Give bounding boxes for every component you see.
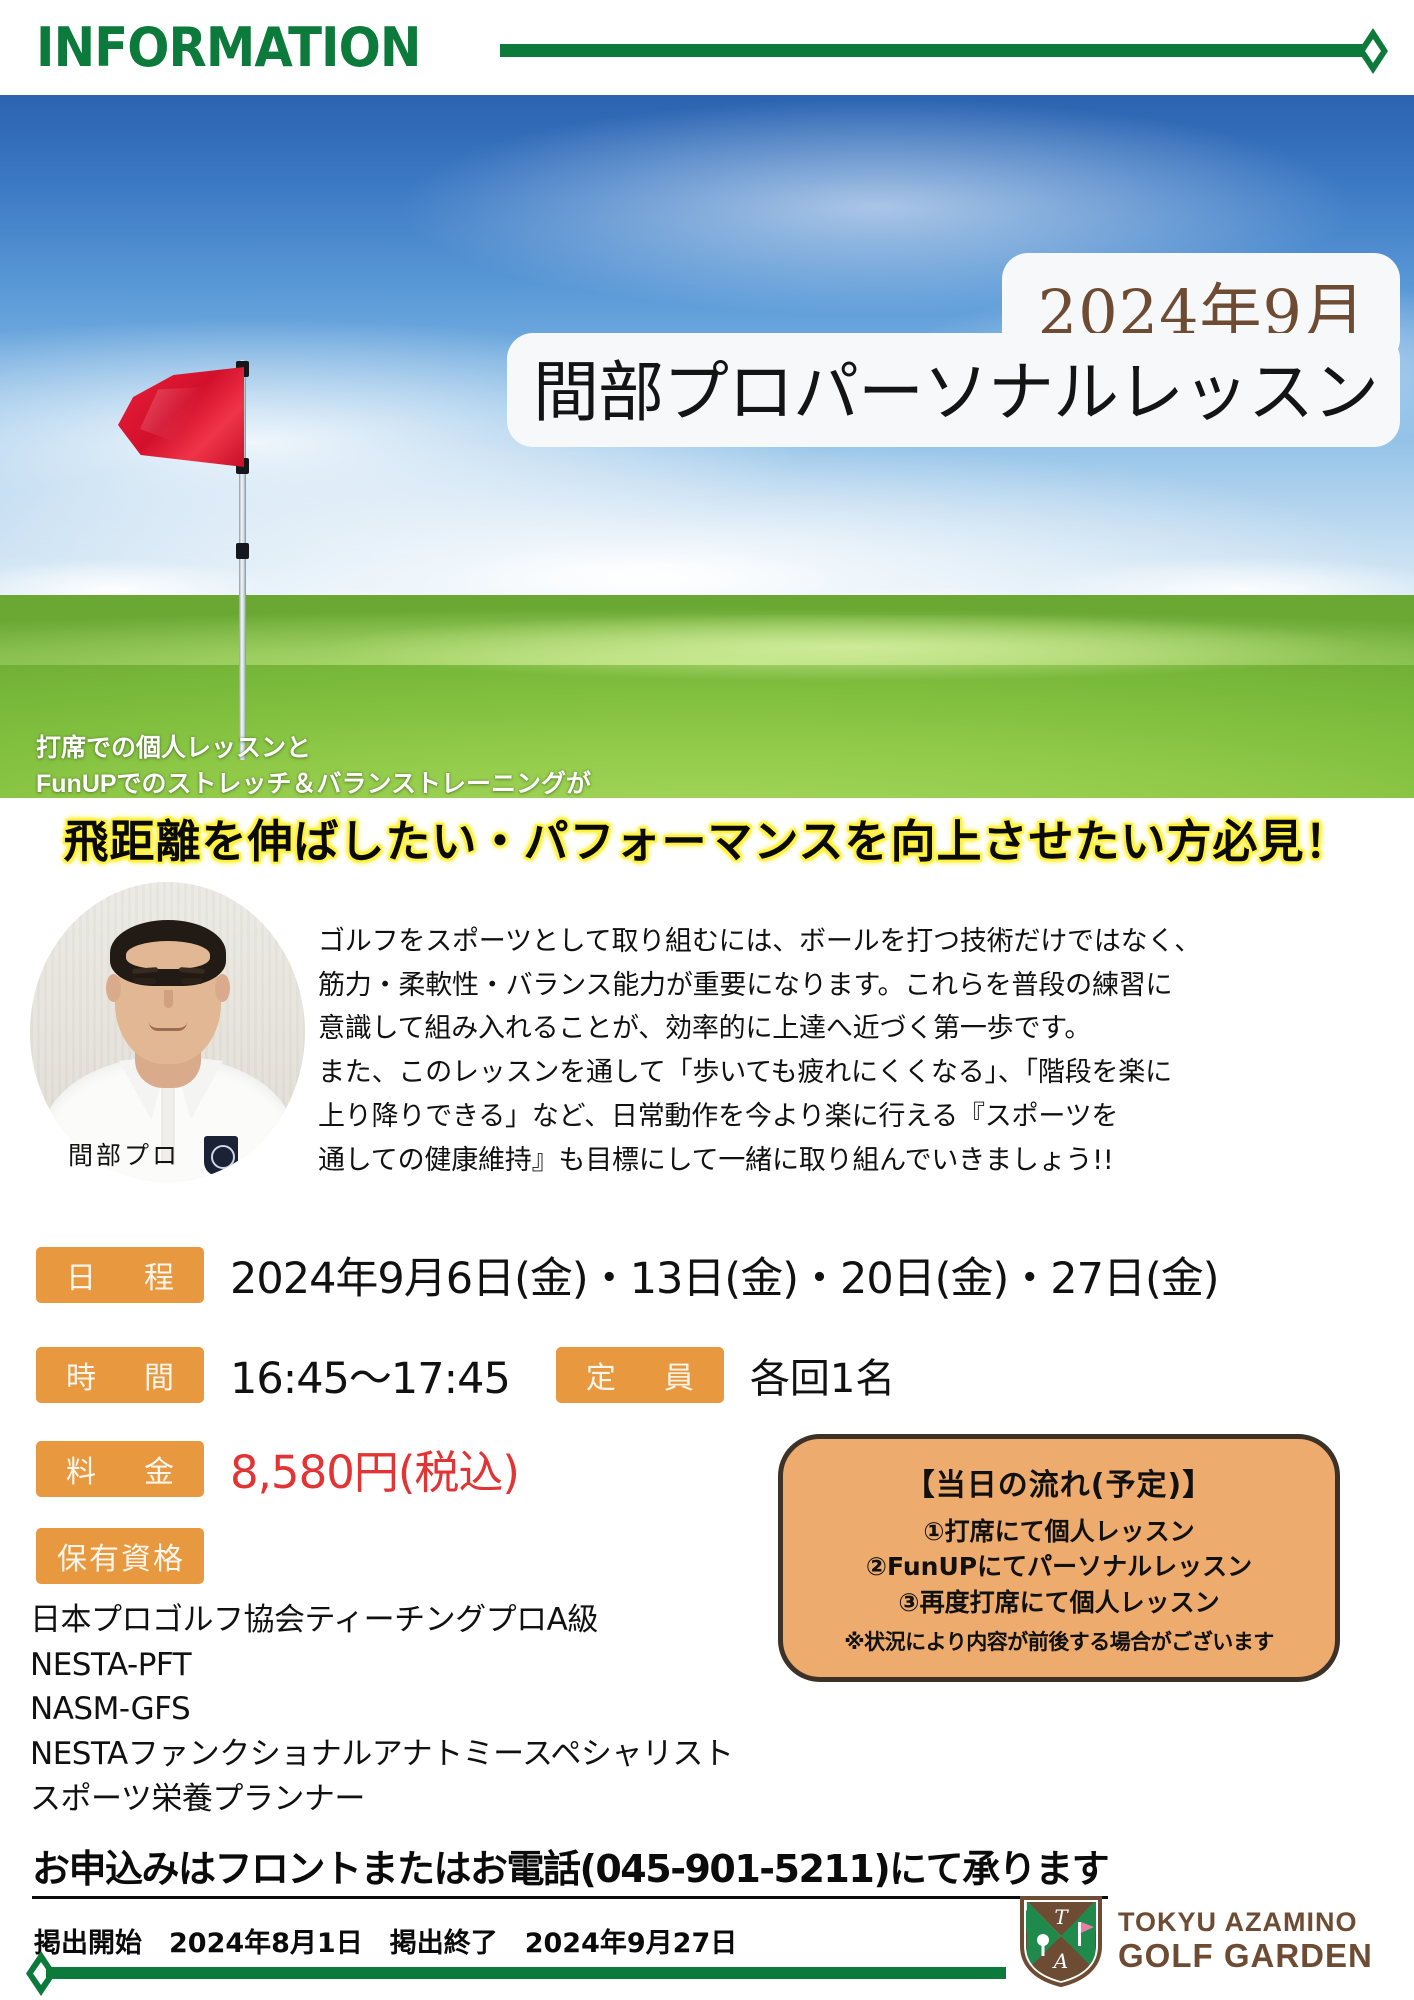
grass-highlight — [0, 615, 1414, 695]
info-row-qualifications: 保有資格 — [36, 1528, 204, 1584]
info-row-time: 時 間 16:45〜17:45 定 員 各回1名 — [36, 1344, 895, 1406]
label-fee: 料 金 — [36, 1441, 204, 1497]
booking-cta-text: お申込みはフロントまたはお電話(045-901-5211)にて承ります — [32, 1838, 1108, 1899]
photo-mouth — [149, 1022, 187, 1031]
hero-lead-text: 打席での個人レッスンと FunUPでのストレッチ＆バランストレーニングが セット… — [36, 731, 591, 798]
value-fee: 8,580円(税込) — [230, 1436, 519, 1501]
label-time: 時 間 — [36, 1347, 204, 1403]
posting-period-text: 掲出開始 2024年8月1日 掲出終了 2024年9月27日 — [34, 1921, 737, 1960]
label-date: 日 程 — [36, 1247, 204, 1303]
flow-note: ※状況により内容が前後する場合がございます — [844, 1626, 1274, 1656]
brand-logo-text: TOKYU AZAMINO GOLF GARDEN — [1118, 1909, 1373, 1972]
header-title: INFORMATION — [36, 16, 421, 79]
photo-ear-left — [106, 974, 121, 1002]
info-row-date: 日 程 2024年9月6日(金)・13日(金)・20日(金)・27日(金) — [36, 1244, 1219, 1306]
label-qualifications: 保有資格 — [36, 1528, 204, 1584]
qualifications-list: 日本プロゴルフ協会ティーチングプロA級 NESTA-PFT NASM-GFS N… — [30, 1598, 810, 1821]
footer-rule — [46, 1967, 1006, 1979]
flow-title: 【当日の流れ(予定)】 — [905, 1460, 1213, 1504]
svg-text:T: T — [1054, 1905, 1069, 1929]
instructor-photo-label: 間部プロ — [68, 1136, 180, 1172]
brand-logo: T A TOKYU AZAMINO GOLF GARDEN — [1018, 1892, 1373, 1988]
catch-headline: 飛距離を伸ばしたい・パフォーマンスを向上させたい方必見！ — [0, 805, 1414, 870]
flow-item-1: ①打席にて個人レッスン — [923, 1514, 1194, 1550]
poster-page: INFORMATION 打席での個人レッスンと FunUPでのストレッチ＆バラン… — [0, 0, 1414, 2000]
brand-logo-line2: GOLF GARDEN — [1118, 1939, 1373, 1972]
value-time: 16:45〜17:45 — [230, 1344, 510, 1406]
catch-headline-text: 飛距離を伸ばしたい・パフォーマンスを向上させたい方必見！ — [63, 816, 1350, 867]
schedule-flow-box: 【当日の流れ(予定)】 ①打席にて個人レッスン ②FunUPにてパーソナルレッス… — [778, 1434, 1340, 1682]
info-row-fee: 料 金 8,580円(税込) — [36, 1436, 519, 1501]
flow-item-3: ③再度打席にて個人レッスン — [898, 1585, 1219, 1621]
svg-text:A: A — [1052, 1949, 1068, 1973]
label-capacity: 定 員 — [556, 1347, 724, 1403]
shield-logo-icon: T A — [1018, 1892, 1104, 1988]
pole-clip-bottom — [236, 543, 249, 559]
instructor-bio: ゴルフをスポーツとして取り組むには、ボールを打つ技術だけではなく、 筋力・柔軟性… — [318, 920, 1408, 1182]
header-rule — [500, 44, 1370, 57]
value-date: 2024年9月6日(金)・13日(金)・20日(金)・27日(金) — [230, 1244, 1219, 1306]
photo-hair — [110, 920, 226, 986]
photo-eye-left — [134, 978, 156, 984]
photo-nose — [164, 990, 173, 1008]
brand-logo-line1: TOKYU AZAMINO — [1118, 1909, 1373, 1936]
photo-shirt-badge-icon — [204, 1136, 238, 1176]
flow-item-2: ②FunUPにてパーソナルレッスン — [866, 1549, 1252, 1585]
value-capacity: 各回1名 — [750, 1346, 895, 1404]
photo-eye-right — [181, 978, 203, 984]
lesson-title-card: 間部プロパーソナルレッスン — [507, 333, 1400, 447]
photo-ear-right — [215, 974, 230, 1002]
lesson-title-text: 間部プロパーソナルレッスン — [533, 354, 1378, 431]
